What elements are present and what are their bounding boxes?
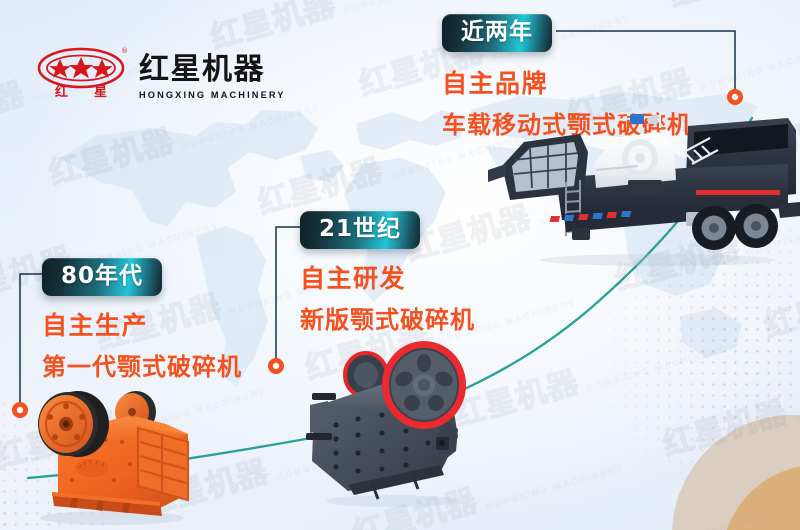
timeline-entry-21c: 21世纪 自主研发 新版颚式破碎机: [300, 211, 475, 335]
hongxing-star-ellipse-logo-icon: ® 红 星: [36, 44, 130, 98]
first-generation-jaw-crusher-image: [10, 372, 215, 530]
svg-text:红: 红: [55, 84, 68, 98]
era-headline-recent: 自主品牌: [442, 64, 692, 100]
timeline-entry-80s: 80年代 自主生产 第一代颚式破碎机: [42, 258, 242, 382]
era-badge-80s: 80年代: [42, 258, 162, 296]
new-jaw-crusher-image: [288, 333, 488, 513]
era-badge-recent: 近两年: [442, 14, 552, 52]
brand-name-cn: 红星机器: [139, 44, 286, 88]
era-badge-21c: 21世纪: [300, 211, 420, 249]
brand-name-en: HONGXING MACHINERY: [139, 90, 286, 100]
brand-logo: ® 红 星 红星机器 HONGXING MACHINERY: [36, 42, 286, 100]
era-subline-21c: 新版颚式破碎机: [300, 300, 475, 335]
era-headline-80s: 自主生产: [42, 306, 242, 342]
svg-text:星: 星: [94, 85, 107, 98]
svg-text:®: ®: [121, 47, 128, 55]
era-headline-21c: 自主研发: [300, 259, 475, 295]
infographic-canvas: 红星机器HONGXING MACHINERY红星机器HONGXING MACHI…: [0, 0, 800, 530]
truck-mounted-mobile-jaw-crusher-image: [488, 108, 800, 268]
